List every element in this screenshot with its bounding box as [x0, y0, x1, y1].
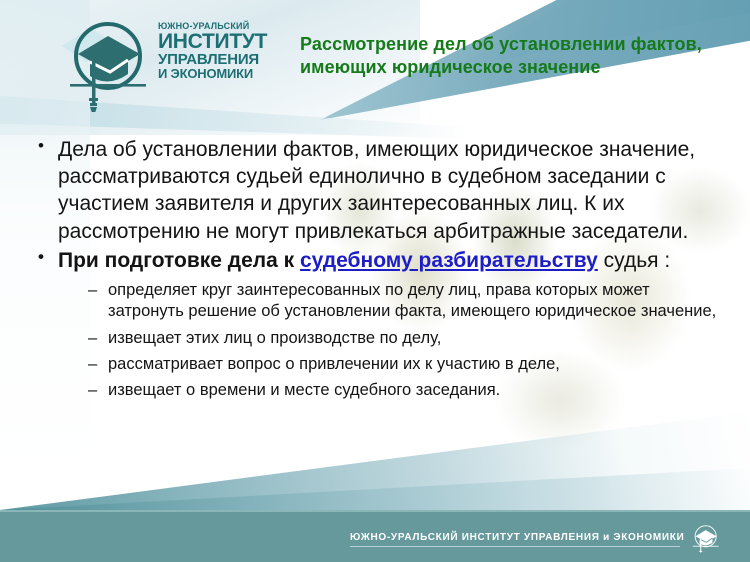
- footer-institute-name: ЮЖНО-УРАЛЬСКИЙ ИНСТИТУТ УПРАВЛЕНИЯ и ЭКО…: [350, 532, 680, 547]
- footer-content: ЮЖНО-УРАЛЬСКИЙ ИНСТИТУТ УПРАВЛЕНИЯ и ЭКО…: [350, 522, 722, 556]
- background-bottom-wedge-dark: [0, 440, 750, 510]
- bullet-lead-2: При подготовке дела к: [58, 249, 300, 272]
- sub-bullet-item: извещает этих лиц о производстве по делу…: [86, 328, 724, 349]
- graduation-cap-emblem-icon: [56, 12, 156, 112]
- bullet-tail-2: судья :: [598, 249, 670, 272]
- sub-bullet-item: определяет круг заинтересованных по делу…: [86, 280, 724, 323]
- bullet-text-1: Дела об установлении фактов, имеющих юри…: [58, 138, 695, 243]
- logo-line-2: ИНСТИТУТ: [158, 31, 288, 52]
- sub-bullet-item: рассматривает вопрос о привлечении их к …: [86, 354, 724, 375]
- sub-bullet-item: извещает о времени и месте судебного зас…: [86, 380, 724, 401]
- logo-line-3: УПРАВЛЕНИЯ: [158, 52, 288, 67]
- institute-logo: ЮЖНО-УРАЛЬСКИЙ ИНСТИТУТ УПРАВЛЕНИЯ И ЭКО…: [46, 8, 281, 113]
- sub-bullet-container: определяет круг заинтересованных по делу…: [86, 280, 724, 401]
- slide-footer: ЮЖНО-УРАЛЬСКИЙ ИНСТИТУТ УПРАВЛЕНИЯ и ЭКО…: [0, 510, 750, 562]
- bullet-item-2: При подготовке дела к судебному разбират…: [34, 247, 724, 402]
- presentation-slide: ЮЖНО-УРАЛЬСКИЙ ИНСТИТУТ УПРАВЛЕНИЯ И ЭКО…: [0, 0, 750, 562]
- sub-bullet-list: определяет круг заинтересованных по делу…: [86, 280, 724, 401]
- footer-divider: [0, 510, 750, 512]
- logo-wordmark: ЮЖНО-УРАЛЬСКИЙ ИНСТИТУТ УПРАВЛЕНИЯ И ЭКО…: [158, 22, 288, 80]
- logo-line-4: И ЭКОНОМИКИ: [158, 67, 288, 80]
- bullet-item-1: Дела об установлении фактов, имеющих юри…: [34, 136, 724, 245]
- slide-body: Дела об установлении фактов, имеющих юри…: [34, 136, 724, 406]
- slide-title: Рассмотрение дел об установлении фактов,…: [300, 33, 710, 79]
- judicial-proceedings-link[interactable]: судебному разбирательству: [300, 249, 598, 272]
- bullet-list: Дела об установлении фактов, имеющих юри…: [34, 136, 724, 401]
- background-bottom-wedge: [0, 390, 750, 510]
- graduation-cap-emblem-icon: [688, 522, 722, 556]
